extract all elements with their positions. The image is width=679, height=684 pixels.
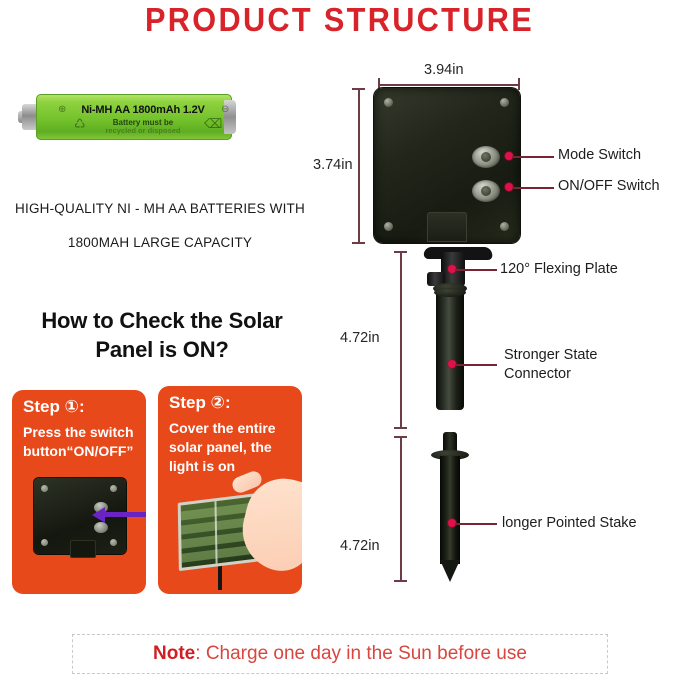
step-card-1: Step ①: Press the switch button“ON/OFF” xyxy=(12,390,146,594)
dimension-label-stake: 4.72in xyxy=(340,538,380,554)
battery-caption: HIGH-QUALITY NI - MH AA BATTERIES WITH 1… xyxy=(0,192,320,260)
callout-mode-switch: Mode Switch xyxy=(558,146,641,165)
step-1-title: Step ①: xyxy=(23,397,85,417)
screw-icon xyxy=(110,485,117,492)
step-2-body: Cover the entire solar panel, the light … xyxy=(169,419,297,476)
callout-flexing-plate: 120° Flexing Plate xyxy=(500,260,618,279)
callout-onoff-switch: ON/OFF Switch xyxy=(558,177,660,196)
callout-state-connector: Stronger State Connector xyxy=(504,346,634,384)
howto-heading-line1: How to Check the Solar xyxy=(2,306,322,335)
callout-leader-state-connector xyxy=(455,364,497,366)
screw-icon xyxy=(41,485,48,492)
screw-icon xyxy=(500,222,509,231)
step-1-body: Press the switch button“ON/OFF” xyxy=(23,423,145,461)
screw-icon xyxy=(384,222,393,231)
screw-icon xyxy=(41,539,48,546)
battery-caption-line2: 1800MAH LARGE CAPACITY xyxy=(0,226,320,260)
callout-leader-flexing-plate xyxy=(455,269,497,271)
battery-spec-text: Ni-MH AA 1800mAh 1.2V xyxy=(54,104,232,116)
recycle-icon: ♺ xyxy=(74,116,86,132)
howto-heading: How to Check the Solar Panel is ON? xyxy=(2,306,322,364)
note-label: Note xyxy=(153,643,195,665)
note-text: : Charge one day in the Sun before use xyxy=(195,643,527,665)
screw-icon xyxy=(384,98,393,107)
dimension-tick xyxy=(352,88,365,90)
pole-top-collar xyxy=(434,288,466,297)
step-card-2: Step ②: Cover the entire solar panel, th… xyxy=(158,386,302,594)
page-title: PRODUCT STRUCTURE xyxy=(24,0,655,40)
howto-heading-line2: Panel is ON? xyxy=(2,335,322,364)
dimension-line-connector xyxy=(400,251,402,429)
dimension-line-panel-height xyxy=(358,88,360,244)
callout-leader-onoff-switch xyxy=(512,187,554,189)
dimension-line-width xyxy=(378,84,520,86)
pointer-arrow-icon xyxy=(96,512,146,517)
callout-leader-pointed-stake xyxy=(455,523,497,525)
dimension-tick xyxy=(394,580,407,582)
onoff-switch-icon xyxy=(94,522,108,533)
dimension-label-panel-height: 3.74in xyxy=(313,157,353,173)
stake-point xyxy=(440,560,460,582)
dimension-label-width: 3.94in xyxy=(424,62,464,78)
battery-caption-line1: HIGH-QUALITY NI - MH AA BATTERIES WITH xyxy=(0,192,320,226)
battery-illustration: ⊕ ⊖ Ni-MH AA 1800mAh 1.2V Battery must b… xyxy=(18,92,246,142)
dimension-tick xyxy=(394,251,407,253)
dimension-tick xyxy=(394,436,407,438)
onoff-switch-boss[interactable] xyxy=(472,180,500,202)
panel-bottom-tab xyxy=(427,212,467,242)
dimension-tick xyxy=(394,427,407,429)
callout-leader-mode-switch xyxy=(512,156,554,158)
screw-icon xyxy=(110,539,117,546)
callout-pointed-stake: longer Pointed Stake xyxy=(502,514,637,533)
note-box: Note: Charge one day in the Sun before u… xyxy=(72,634,608,674)
stake-shaft xyxy=(440,456,460,564)
dimension-tick xyxy=(352,242,365,244)
dimension-line-stake xyxy=(400,436,402,582)
solar-panel-back xyxy=(374,88,520,243)
step-2-title: Step ②: xyxy=(169,393,231,413)
panel-tab xyxy=(70,540,96,558)
dimension-label-connector: 4.72in xyxy=(340,330,380,346)
screw-icon xyxy=(500,98,509,107)
connector-pole xyxy=(436,290,464,410)
mode-switch-boss[interactable] xyxy=(472,146,500,168)
no-dispose-icon: ⌫ xyxy=(204,116,222,132)
dimension-tick xyxy=(518,78,520,90)
